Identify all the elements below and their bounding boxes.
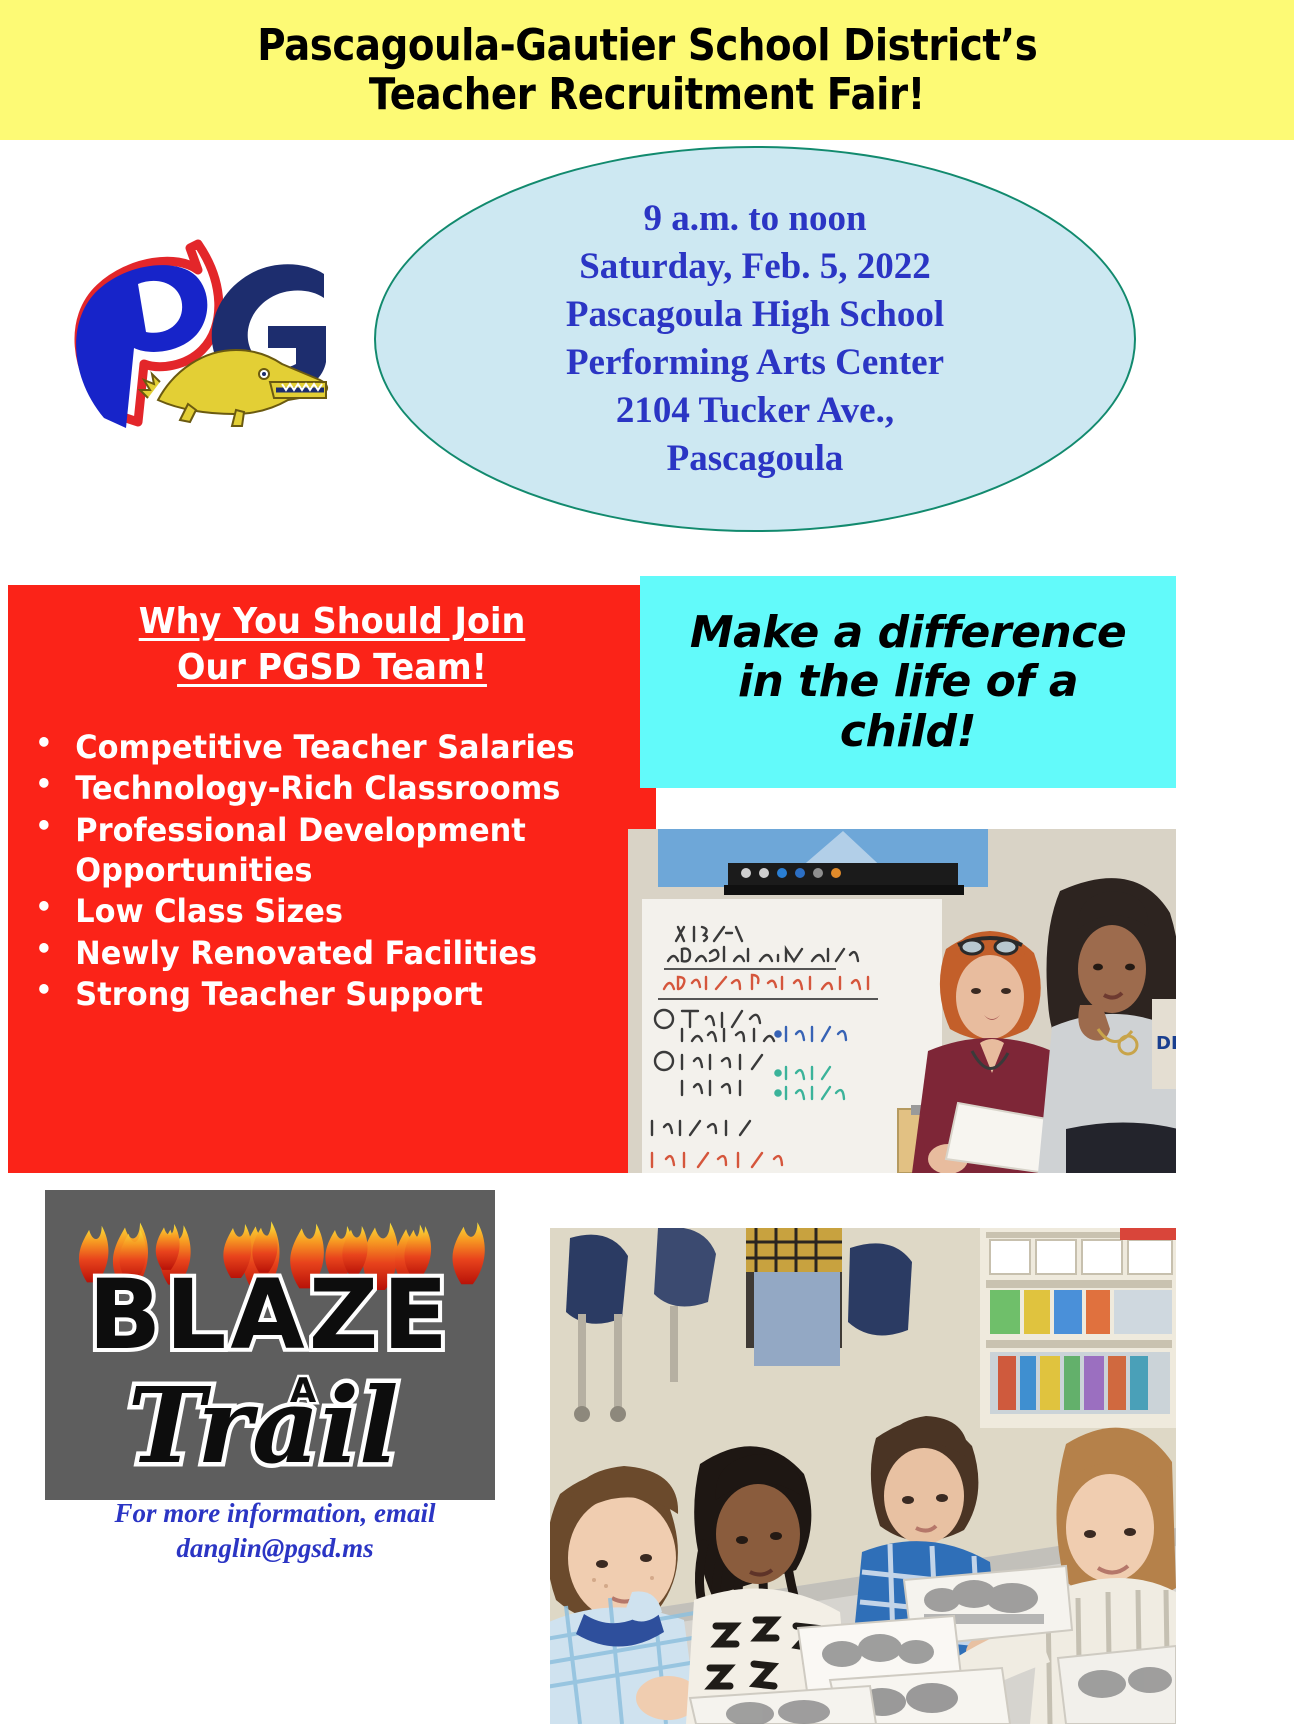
banner-title-line-1: Pascagoula-Gautier School District’s — [257, 21, 1037, 70]
contact-email[interactable]: danglin@pgsd.ms — [40, 1531, 510, 1566]
classroom-photo-illustration: DE — [628, 829, 1176, 1173]
event-city: Pascagoula — [667, 435, 844, 483]
list-item: Competitive Teacher Salaries — [24, 727, 609, 767]
list-item: Newly Renovated Facilities — [24, 933, 609, 973]
banner-title-line-2: Teacher Recruitment Fair! — [369, 70, 925, 119]
event-building: Performing Arts Center — [566, 339, 944, 387]
event-venue: Pascagoula High School — [566, 291, 944, 339]
contact-prompt: For more information, email — [40, 1496, 510, 1531]
contact-info: For more information, email danglin@pgsd… — [40, 1496, 510, 1566]
photo-students-table — [550, 1228, 1176, 1724]
photo-geometry-classroom: DE — [628, 829, 1176, 1173]
event-details-ellipse: 9 a.m. to noon Saturday, Feb. 5, 2022 Pa… — [374, 146, 1136, 532]
benefits-heading-line-2: Our PGSD Team! — [177, 647, 487, 688]
benefits-heading-line-1: Why You Should Join — [139, 601, 526, 642]
benefits-list: Competitive Teacher Salaries Technology-… — [24, 727, 640, 1014]
students-photo-illustration — [550, 1228, 1176, 1724]
event-date: Saturday, Feb. 5, 2022 — [579, 243, 931, 291]
blaze-a-trail-logo: BLAZE A Trail — [45, 1190, 495, 1500]
slogan-line-1: Make a difference — [690, 608, 1126, 657]
slogan-line-2: in the life of a — [738, 657, 1078, 706]
pgsd-logo — [38, 222, 338, 442]
svg-text:DE: DE — [1156, 1033, 1176, 1054]
list-item: Strong Teacher Support — [24, 974, 609, 1014]
blaze-word: BLAZE — [88, 1259, 452, 1371]
list-item: Professional Development Opportunities — [24, 810, 609, 891]
blaze-a-trail-logo-icon: BLAZE A Trail — [45, 1190, 495, 1500]
event-street: 2104 Tucker Ave., — [616, 387, 894, 435]
slogan-panel: Make a difference in the life of a child… — [640, 576, 1176, 788]
svg-text:Trail: Trail — [127, 1364, 398, 1487]
pg-alligator-logo-icon — [38, 222, 338, 442]
benefits-panel: Why You Should Join Our PGSD Team! Compe… — [8, 585, 656, 1173]
benefits-heading: Why You Should Join Our PGSD Team! — [46, 599, 619, 691]
list-item: Technology-Rich Classrooms — [24, 768, 609, 808]
slogan-line-3: child! — [840, 707, 976, 756]
header-banner: Pascagoula-Gautier School District’s Tea… — [0, 0, 1294, 140]
list-item: Low Class Sizes — [24, 891, 609, 931]
event-time: 9 a.m. to noon — [643, 195, 866, 243]
